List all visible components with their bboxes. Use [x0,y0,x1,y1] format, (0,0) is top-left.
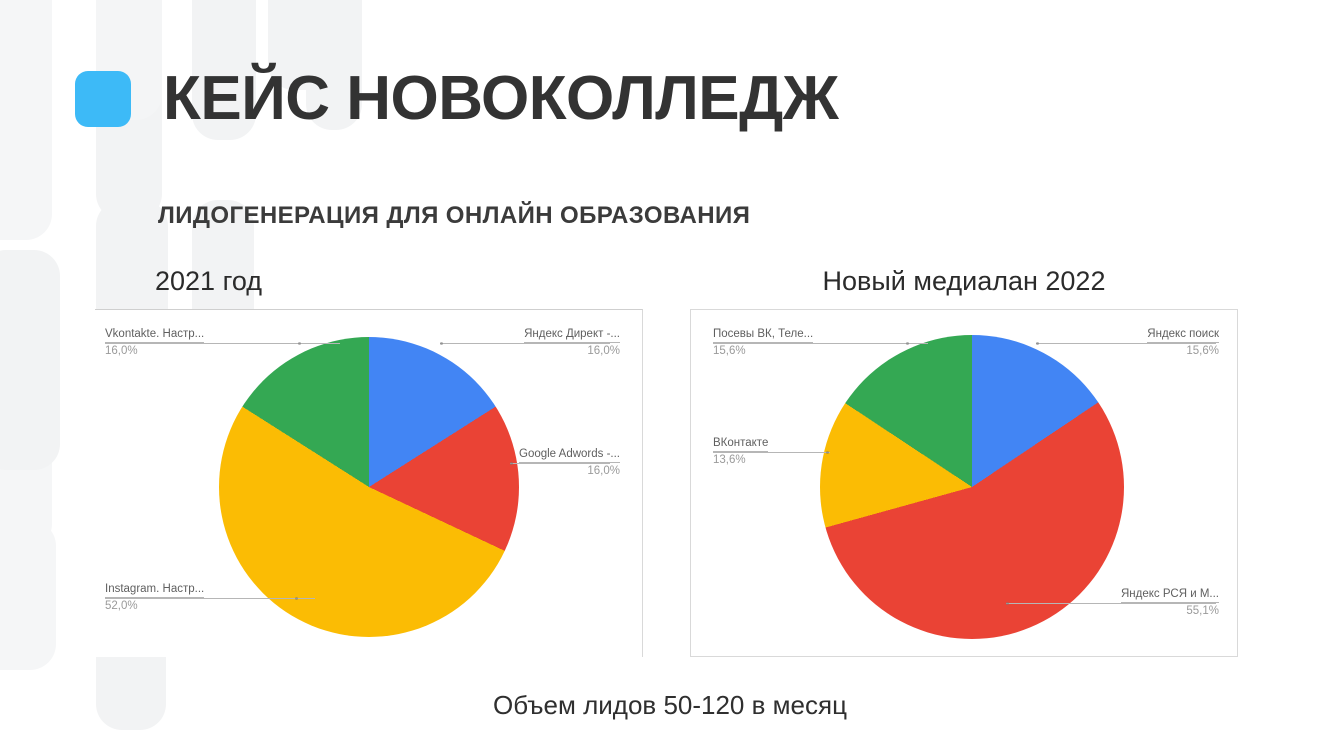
pie-chart-2022: Посевы ВК, Теле... 15,6% Яндекс поиск 15… [690,309,1238,657]
leader-dot-vk [826,451,829,454]
pie-label-yandex-poisk-value: 15,6% [1147,343,1219,358]
leader-dot-rsya [1006,602,1009,605]
pie-label-yandex-poisk-name: Яндекс поиск [1147,327,1219,343]
pie-label-yandex-direct: Яндекс Директ -... 16,0% [524,327,620,358]
deco-bar-2 [0,300,52,550]
pie-label-yandex-direct-name: Яндекс Директ -... [524,327,620,343]
pie-label-instagram-value: 52,0% [105,598,204,613]
slide-header: КЕЙС НОВОКОЛЛЕДЖ [75,68,838,130]
deco-bar-1 [0,0,52,240]
slide-canvas: КЕЙС НОВОКОЛЛЕДЖ ЛИДОГЕНЕРАЦИЯ ДЛЯ ОНЛАЙ… [0,0,1340,754]
leader-dot-vkontakte [298,342,301,345]
pie-label-yandex-direct-value: 16,0% [524,343,620,358]
pie-label-vkontakte-2022-value: 13,6% [713,452,768,467]
pie-label-google-adwords: Google Adwords -... 16,0% [519,447,620,478]
chart-title-2021: 2021 год [95,265,643,297]
leader-dot-instagram [295,597,298,600]
deco-bar-12 [0,520,56,670]
pie-label-vkontakte: Vkontakte. Настр... 16,0% [105,327,204,358]
pie-label-posevy-name: Посевы ВК, Теле... [713,327,813,343]
pie-label-rsya-name: Яндекс РСЯ и М... [1121,587,1219,603]
pie-label-vkontakte-name: Vkontakte. Настр... [105,327,204,343]
pie-label-rsya: Яндекс РСЯ и М... 55,1% [1121,587,1219,618]
pie-label-vkontakte-2022: ВКонтакте 13,6% [713,436,768,467]
pie-label-google-adwords-name: Google Adwords -... [519,447,620,463]
page-title: КЕЙС НОВОКОЛЛЕДЖ [163,68,838,130]
chart-title-2022: Новый медиалан 2022 [690,265,1238,297]
pie-label-yandex-poisk: Яндекс поиск 15,6% [1147,327,1219,358]
pie-label-google-adwords-value: 16,0% [519,463,620,478]
footer-note: Объем лидов 50-120 в месяц [0,690,1340,721]
pie-chart-2021: Vkontakte. Настр... 16,0% Яндекс Директ … [95,309,643,657]
leader-dot-posevy [906,342,909,345]
blue-rounded-square-icon [75,71,131,127]
chart-block-2021: 2021 год Vkontakte. Настр... 16,0% [95,265,643,657]
pie-label-instagram-name: Instagram. Настр... [105,582,204,598]
chart-block-2022: Новый медиалан 2022 Посевы ВК, Теле... 1… [690,265,1238,657]
pie-label-rsya-value: 55,1% [1121,603,1219,618]
page-subtitle: ЛИДОГЕНЕРАЦИЯ ДЛЯ ОНЛАЙН ОБРАЗОВАНИЯ [158,202,750,230]
pie-slices-2021 [219,337,519,637]
pie-label-posevy-value: 15,6% [713,343,813,358]
pie-label-instagram: Instagram. Настр... 52,0% [105,582,204,613]
leader-dot-google-adwords [510,462,513,465]
pie-label-vkontakte-2022-name: ВКонтакте [713,436,768,452]
deco-bar-6 [0,250,60,470]
leader-dot-yandex-poisk [1036,342,1039,345]
leader-dot-yandex-direct [440,342,443,345]
pie-label-posevy: Посевы ВК, Теле... 15,6% [713,327,813,358]
pie-slices-2022 [820,335,1124,639]
pie-label-vkontakte-value: 16,0% [105,343,204,358]
